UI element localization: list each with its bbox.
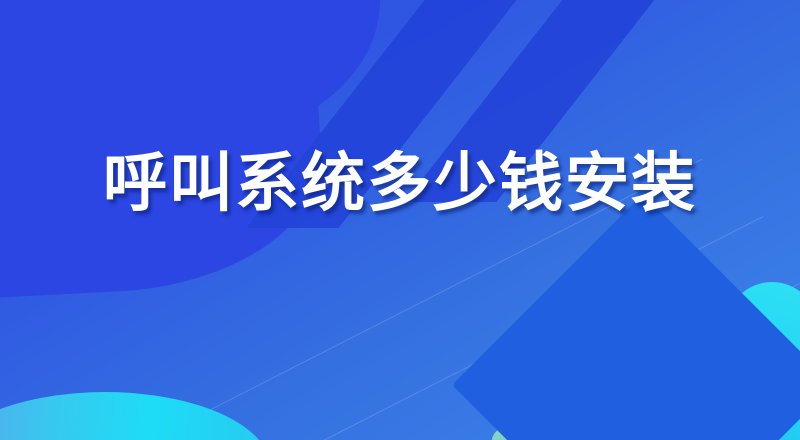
banner-title: 呼叫系统多少钱安装 xyxy=(103,151,697,218)
title-container: 呼叫系统多少钱安装 xyxy=(0,0,800,440)
promo-banner: 呼叫系统多少钱安装 xyxy=(0,0,800,440)
